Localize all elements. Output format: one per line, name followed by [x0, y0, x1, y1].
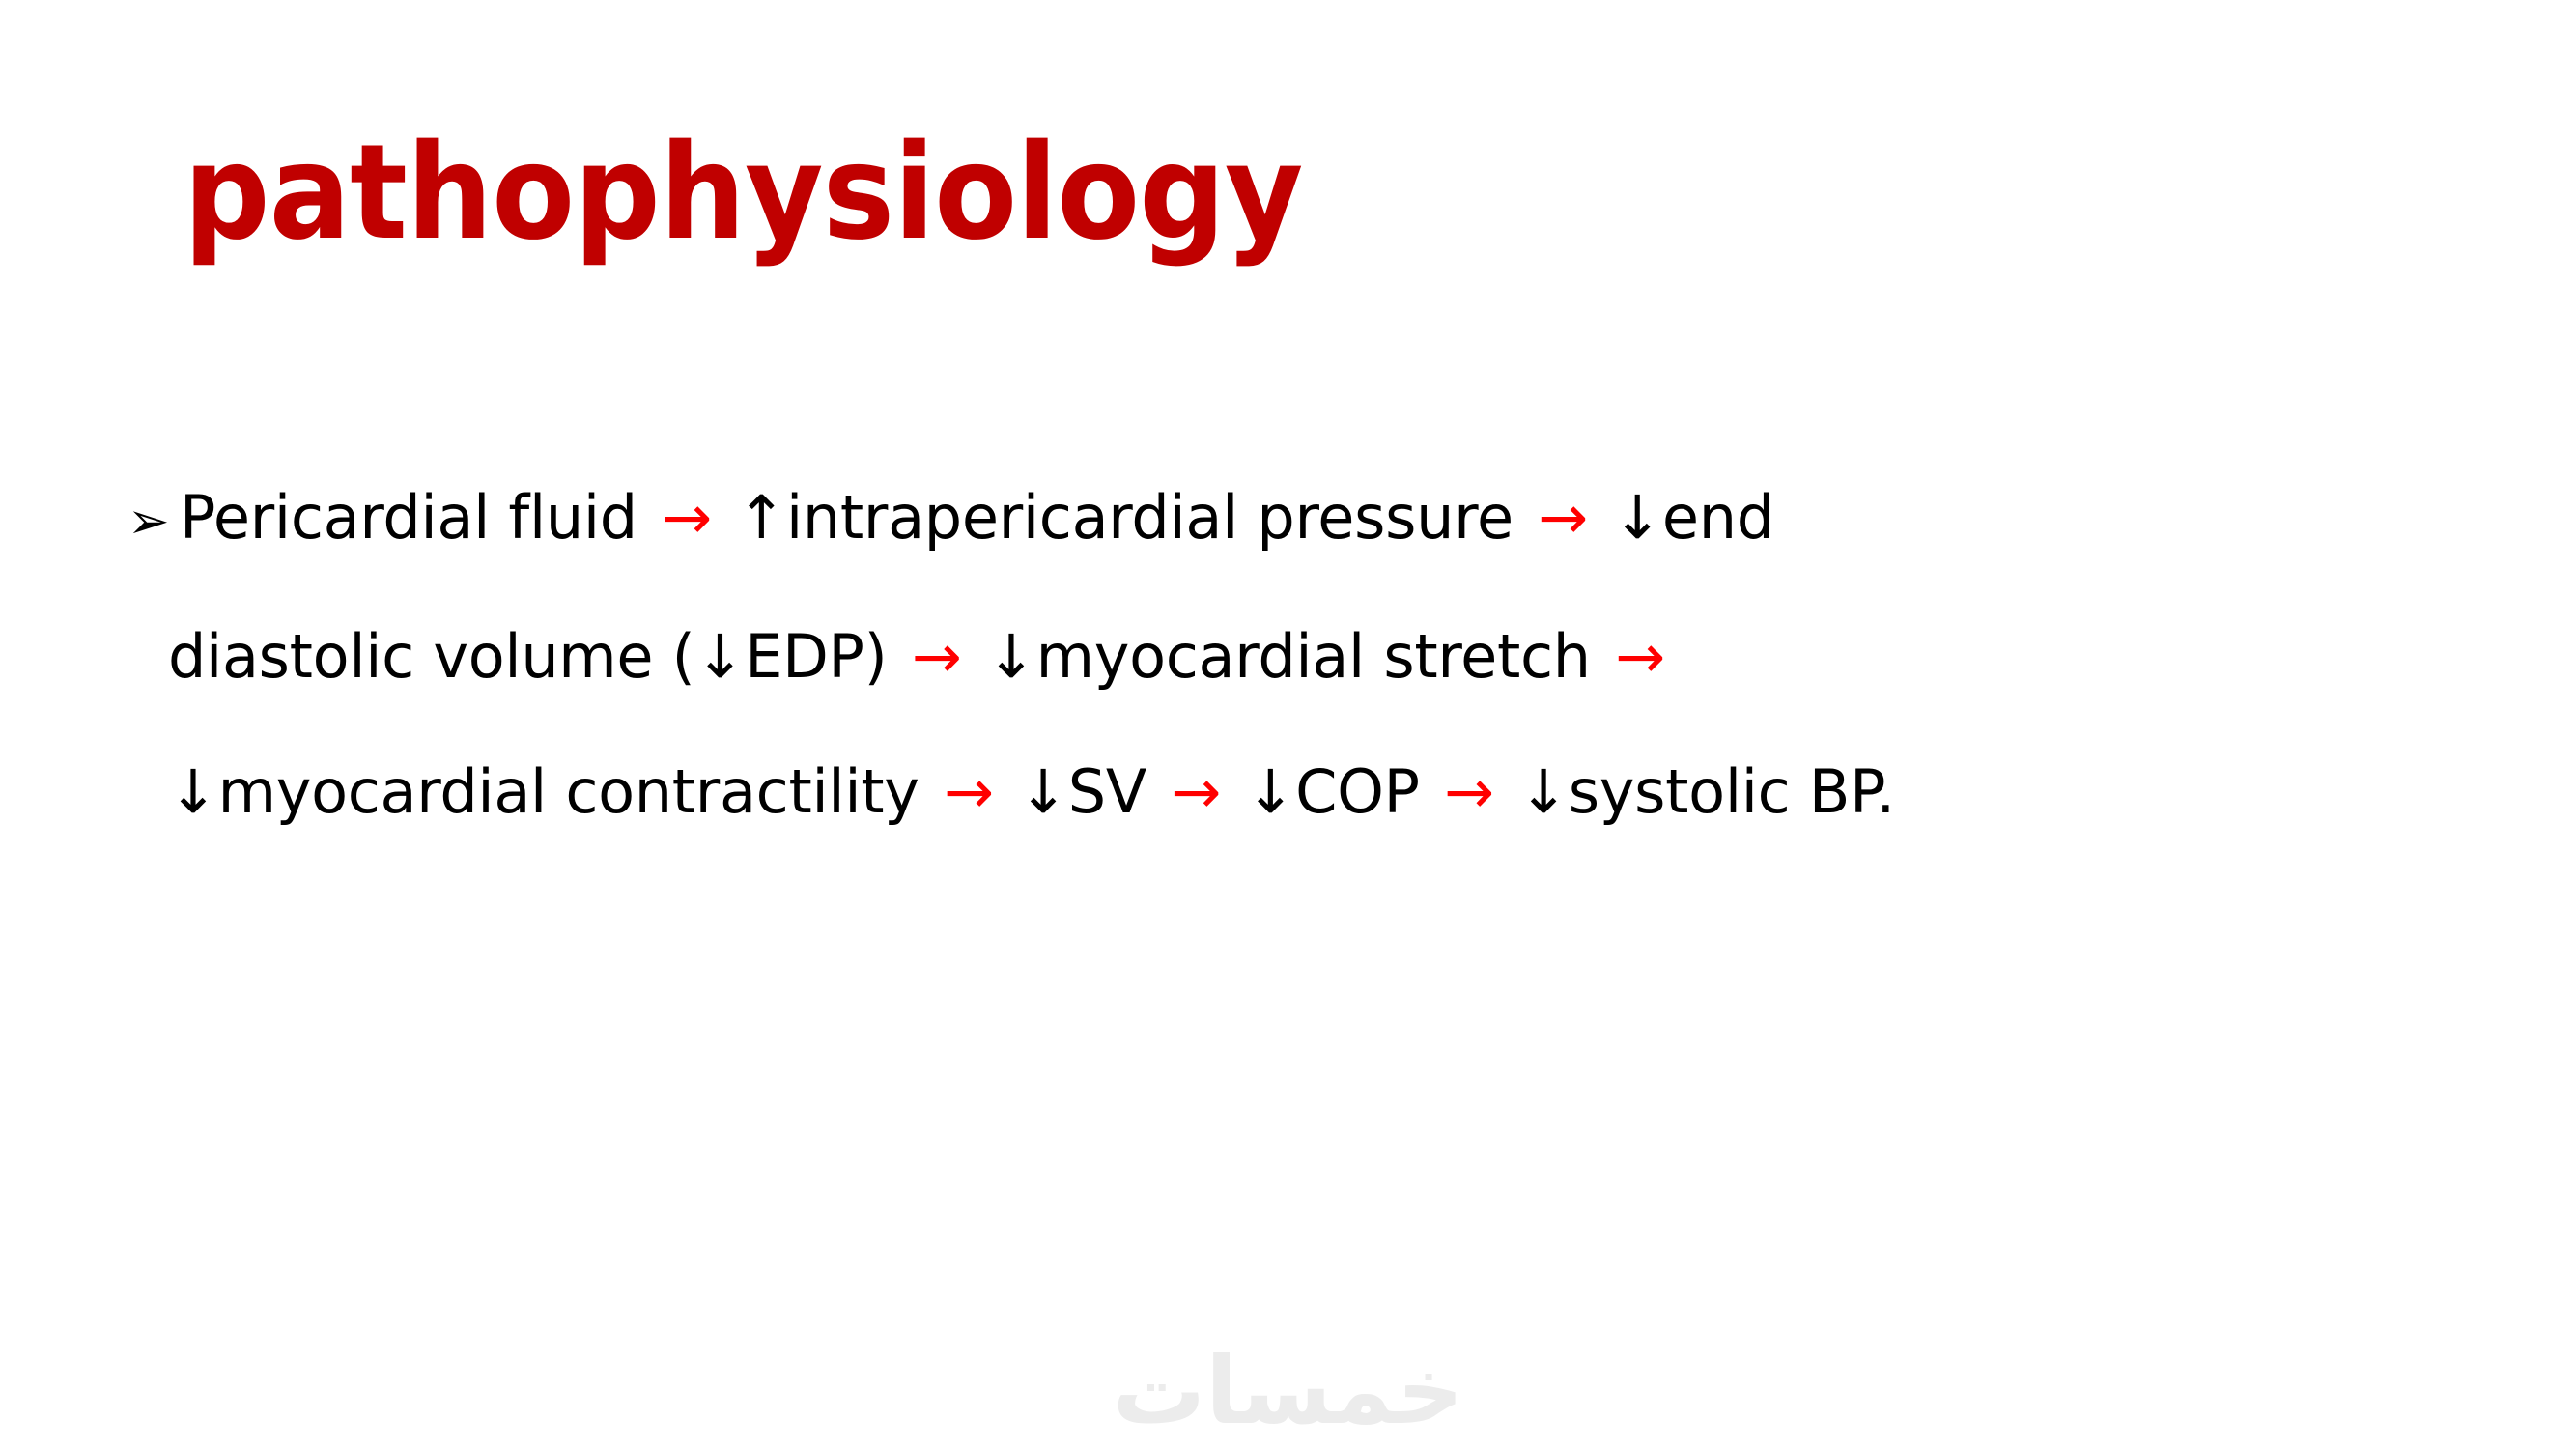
- body-text-segment: ↓SV: [1000, 756, 1166, 827]
- flow-arrow-icon: →: [938, 756, 1000, 827]
- body-text-segment: ↓systolic BP.: [1500, 756, 1895, 827]
- body-text-segment: ↓myocardial stretch: [968, 621, 1610, 692]
- body-text-segment: Pericardial fluid: [180, 482, 656, 553]
- flow-arrow-icon: →: [1532, 482, 1594, 553]
- flow-arrow-icon: →: [656, 482, 718, 553]
- body-line: ➢Pericardial fluid → ↑intrapericardial p…: [127, 450, 2446, 589]
- flow-arrow-icon: →: [1438, 756, 1500, 827]
- body-text-segment: ↑intrapericardial pressure: [718, 482, 1532, 553]
- flow-arrow-icon: →: [1165, 756, 1227, 827]
- body-text-block: ➢Pericardial fluid → ↑intrapericardial p…: [127, 450, 2446, 860]
- body-text-segment: diastolic volume (↓EDP): [168, 621, 906, 692]
- bullet-arrowhead-icon: ➢: [127, 454, 180, 589]
- body-text-segment: ↓end: [1594, 482, 1774, 553]
- body-text-segment: ↓COP: [1227, 756, 1438, 827]
- watermark-khamsat: خمسات: [0, 1345, 2576, 1437]
- body-line: diastolic volume (↓EDP) → ↓myocardial st…: [127, 589, 2446, 724]
- body-text-segment: ↓myocardial contractility: [168, 756, 938, 827]
- flow-arrow-icon: →: [906, 621, 968, 692]
- slide-canvas: pathophysiology ➢Pericardial fluid → ↑in…: [0, 0, 2576, 1449]
- page-title: pathophysiology: [184, 128, 2138, 259]
- body-line: ↓myocardial contractility → ↓SV → ↓COP →…: [127, 724, 2446, 860]
- title-block: pathophysiology: [184, 128, 2308, 301]
- flow-arrow-icon: →: [1609, 621, 1671, 692]
